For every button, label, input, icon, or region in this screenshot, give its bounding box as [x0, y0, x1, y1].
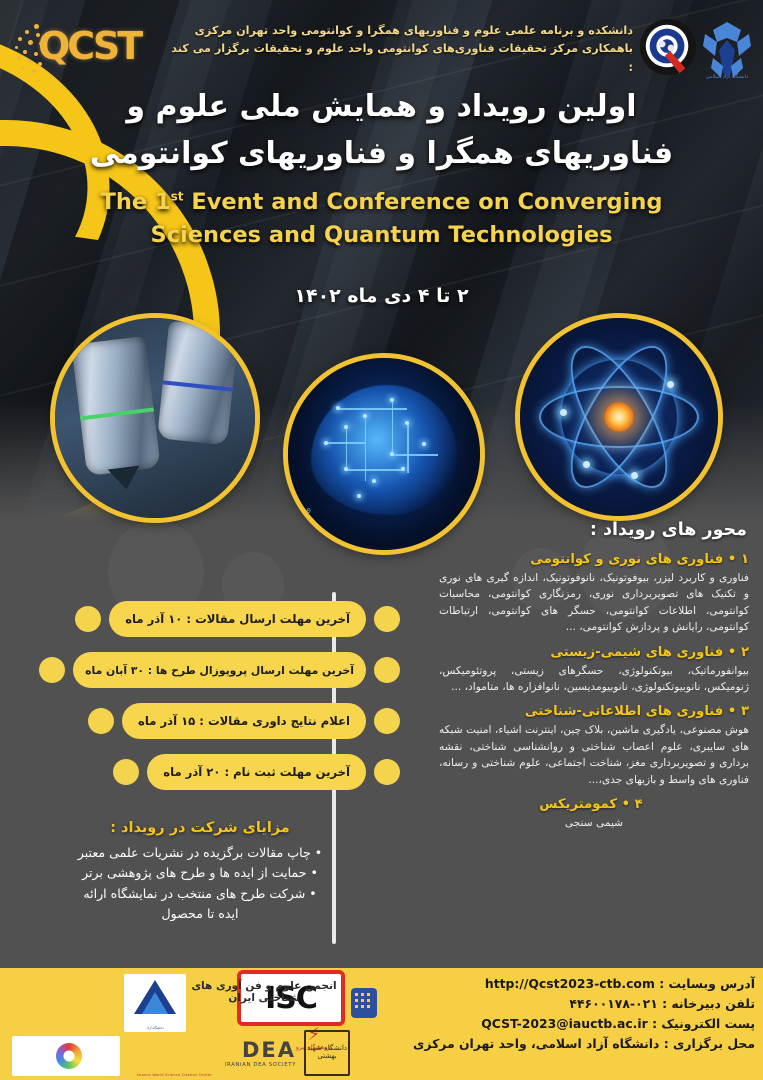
persian-title: اولین رویداد و همایش ملی علوم و فناوریها… [0, 84, 763, 177]
ordinal-suffix: st [171, 190, 184, 204]
english-title-main: Event and Conference on Converging [191, 189, 662, 215]
english-title-line-1: The 1st Event and Conference on Convergi… [0, 186, 763, 219]
deadline-row: آخرین مهلت ارسال پروپوزال طرح ها : ۳۰ آب… [0, 649, 400, 691]
contact-email-row: پست الکترونیک : QCST-2023@iauctb.ac.ir [355, 1014, 755, 1034]
bullet-dot-icon [374, 759, 400, 785]
deadline-row: اعلام نتایج داوری مقالات : ۱۵ آذر ماه [0, 700, 400, 742]
cognitive-society-name: انجمن علوم و فن آوری های شناختی ایران [189, 980, 339, 1004]
organizer-text: دانشکده و برنامه علمی علوم و فناوریهای ه… [163, 22, 633, 77]
contact-website-label: آدرس وبسایت : [659, 976, 755, 991]
topic-bullet: • [728, 552, 736, 567]
benefit-item: • شرکت طرح های منتخب در نمایشگاه ارائه [0, 884, 400, 904]
contact-website-row: آدرس وبسایت : http://Qcst2023-ctb.com [355, 974, 755, 994]
benefit-item: • چاپ مقالات برگزیده در نشریات علمی معتب… [0, 843, 400, 863]
contact-venue-label: محل برگزاری : [664, 1036, 755, 1051]
topic-title: ۴ • کمومتریکس [433, 797, 749, 812]
dea-society-logo: DEA IRANIAN DEA SOCIETY [200, 1038, 296, 1078]
deadline-row: آخرین مهلت ثبت نام : ۲۰ آذر ماه [0, 751, 400, 793]
english-title-line-2: Sciences and Quantum Technologies [0, 219, 763, 252]
header-logos: دانشگاه آزاد اسلامی [637, 12, 757, 90]
contact-email-value[interactable]: QCST-2023@iauctb.ac.ir [481, 1016, 647, 1031]
bullet-dot-icon [75, 606, 101, 632]
azad-logo-caption: دانشگاه آزاد اسلامی [701, 74, 753, 80]
poster-footer: ISC Islamic World Science Citation Cente… [0, 968, 763, 1080]
university-logo-caption: دانشگاه آزاد [124, 1026, 186, 1030]
deadline-pill: آخرین مهلت ارسال پروپوزال طرح ها : ۳۰ آب… [73, 652, 366, 688]
university-triangle-logo: دانشگاه آزاد [124, 974, 186, 1032]
contact-phone-label: تلفن دبیرخانه : [662, 996, 755, 1011]
shahid-logo-text: دانشگاه شهید بهشتی [306, 1045, 348, 1060]
building-icon [351, 988, 377, 1018]
topic-body: هوش مصنوعی، یادگیری ماشین، بلاک چین، این… [439, 722, 749, 788]
bullet-dot-icon [113, 759, 139, 785]
qcst-logo-text: QCST [38, 24, 140, 68]
benefits-heading: مزایای شرکت در رویداد : [0, 820, 400, 836]
topic-item: ۴ • کمومتریکس شیمی سنجی [433, 797, 755, 831]
topic-label: کمومتریکس [539, 797, 617, 812]
shahid-beheshti-logo: دانشگاه شهید بهشتی [304, 1030, 350, 1076]
bullet-dot-icon [374, 708, 400, 734]
topic-item: ۲ • فناوری های شیمی-زیستی بیوانفورماتیک،… [433, 645, 755, 696]
topic-number: ۴ [635, 797, 643, 812]
deadline-pill: آخرین مهلت ارسال مقالات : ۱۰ آذر ماه [109, 601, 366, 637]
rainbow-circle-icon [56, 1043, 82, 1069]
topic-number: ۳ [741, 704, 749, 719]
poster-content: محور های رویداد : ۱ • فناوری های نوری و … [0, 520, 763, 960]
microscope-image [55, 318, 255, 518]
topic-title: ۱ • فناوری های نوری و کوانتومی [433, 552, 749, 567]
poster-header: QCST دانشکده و برنامه علمی علوم و فناوری… [0, 8, 763, 88]
topic-title: ۳ • فناوری های اطلاعاتی-شناختی [433, 704, 749, 719]
bullet-dot-icon [374, 657, 400, 683]
benefits-section: مزایای شرکت در رویداد : • چاپ مقالات برگ… [0, 820, 400, 925]
contact-email-label: پست الکترونیک : [652, 1016, 755, 1031]
topic-label: فناوری های اطلاعاتی-شناختی [525, 704, 723, 719]
conference-poster: QCST دانشکده و برنامه علمی علوم و فناوری… [0, 0, 763, 1080]
dea-logo-text: DEA [200, 1038, 296, 1062]
topic-label: فناوری های شیمی-زیستی [550, 645, 723, 660]
topic-bullet: • [728, 645, 736, 660]
bullet-dot-icon [39, 657, 65, 683]
topic-item: ۳ • فناوری های اطلاعاتی-شناختی هوش مصنوع… [433, 704, 755, 788]
bullet-dot-icon [374, 606, 400, 632]
topic-item: ۱ • فناوری های نوری و کوانتومی فناوری و … [433, 552, 755, 636]
qcst-logo: QCST [12, 16, 142, 78]
topic-body: فناوری و کاربرد لیزر، بیوفوتونیک، نانوفو… [439, 570, 749, 636]
topic-bullet: • [622, 797, 630, 812]
contact-block: آدرس وبسایت : http://Qcst2023-ctb.com تل… [355, 974, 755, 1054]
quantum-research-center-logo [639, 18, 697, 76]
organizer-line-1: دانشکده و برنامه علمی علوم و فناوریهای ه… [163, 22, 633, 40]
contact-phone-row: تلفن دبیرخانه : ۰۲۱-۴۴۶۰۰۱۷۸ [355, 994, 755, 1014]
persian-title-line-2: فناوریهای همگرا و فناوریهای کوانتومی [0, 131, 763, 178]
topics-heading: محور های رویداد : [433, 520, 747, 540]
topic-number: ۱ [741, 552, 749, 567]
topic-label: فناوری های نوری و کوانتومی [530, 552, 723, 567]
contact-phone-value: ۰۲۱-۴۴۶۰۰۱۷۸ [569, 996, 657, 1011]
dea-logo-subtitle: IRANIAN DEA SOCIETY [200, 1062, 296, 1068]
contact-website-value[interactable]: http://Qcst2023-ctb.com [485, 976, 655, 991]
deadline-pill: آخرین مهلت ثبت نام : ۲۰ آذر ماه [147, 754, 366, 790]
triangle-inner-icon [142, 992, 168, 1014]
persian-title-line-1: اولین رویداد و همایش ملی علوم و [0, 84, 763, 131]
deadlines-section: آخرین مهلت ارسال مقالات : ۱۰ آذر ماه آخر… [0, 598, 400, 802]
event-date: ۲ تا ۴ دی ماه ۱۴۰۲ [0, 285, 763, 307]
atom-image [520, 318, 718, 516]
topic-body: بیوانفورماتیک، بیوتکنولوژی، حسگرهای زیست… [439, 663, 749, 696]
organizer-line-2: باهمکاری مرکز تحقیقات فناوری‌های کوانتوم… [163, 40, 633, 77]
topic-body: شیمی سنجی [439, 815, 749, 831]
contact-venue-row: محل برگزاری : دانشگاه آزاد اسلامی، واحد … [355, 1034, 755, 1054]
contact-venue-value: دانشگاه آزاد اسلامی، واحد تهران مرکزی [413, 1036, 659, 1051]
deadline-pill: اعلام نتایج داوری مقالات : ۱۵ آذر ماه [122, 703, 366, 739]
english-title: The 1st Event and Conference on Convergi… [0, 186, 763, 253]
topic-title: ۲ • فناوری های شیمی-زیستی [433, 645, 749, 660]
research-institute-caption [50, 1052, 52, 1060]
topics-section: محور های رویداد : ۱ • فناوری های نوری و … [433, 520, 755, 831]
topic-bullet: • [728, 704, 736, 719]
sponsor-logos: ISC Islamic World Science Citation Cente… [4, 970, 345, 1078]
research-institute-logo [12, 1036, 120, 1076]
english-title-prefix: The 1 [100, 189, 170, 215]
deadline-row: آخرین مهلت ارسال مقالات : ۱۰ آذر ماه [0, 598, 400, 640]
benefit-item: • حمایت از ایده ها و طرح های پژوهشی برتر [0, 863, 400, 883]
topic-number: ۲ [741, 645, 749, 660]
bullet-dot-icon [88, 708, 114, 734]
benefit-item: ایده تا محصول [0, 904, 400, 924]
